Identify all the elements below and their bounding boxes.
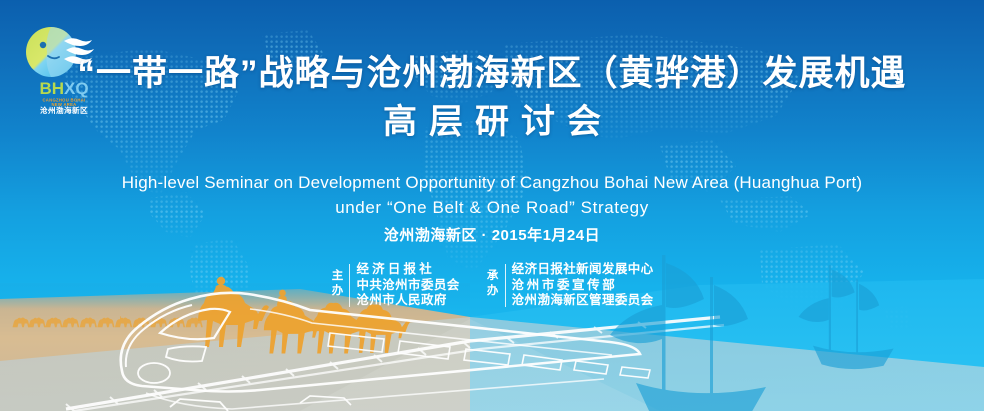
- host-list: 经济日报社 中共沧州市委员会 沧州市人民政府: [356, 262, 459, 309]
- cohost-label-char-1: 承: [486, 269, 500, 284]
- cohost-label: 承 办: [486, 262, 500, 309]
- host-label-char-2: 办: [330, 284, 344, 299]
- host-label: 主 办: [330, 262, 344, 309]
- host-item: 中共沧州市委员会: [356, 278, 459, 294]
- host-item: 沧州市人民政府: [356, 293, 459, 309]
- subtitle-en-line-2: under “One Belt & One Road” Strategy: [0, 195, 984, 220]
- subtitle-block: High-level Seminar on Development Opport…: [0, 170, 984, 220]
- high-speed-train-outline: [121, 293, 650, 411]
- subtitle-en-line-1: High-level Seminar on Development Opport…: [0, 170, 984, 195]
- host-divider: [349, 264, 350, 307]
- cohost-group: 承 办 经济日报社新闻发展中心 沧州市委宣传部 沧州渤海新区管理委员会: [486, 262, 654, 309]
- date-venue-line: 沧州渤海新区 · 2015年1月24日: [0, 224, 984, 245]
- title-block: “一带一路”战略与沧州渤海新区（黄骅港）发展机遇 高层研讨会: [0, 52, 984, 144]
- banner-scene-graphics: [0, 221, 984, 411]
- conference-banner: BHXQ CANGZHOU BOHAI NEW AREA 沧州渤海新区 “一带一…: [0, 0, 984, 411]
- title-line-1: “一带一路”战略与沧州渤海新区（黄骅港）发展机遇: [0, 52, 984, 96]
- cohost-item: 经济日报社新闻发展中心: [512, 262, 654, 278]
- host-item: 经济日报社: [356, 262, 459, 278]
- cohost-label-char-2: 办: [486, 284, 500, 299]
- host-label-char-1: 主: [330, 269, 344, 284]
- organizers-block: 主 办 经济日报社 中共沧州市委员会 沧州市人民政府 承 办 经济日报社新闻发展…: [0, 262, 984, 309]
- railway-track: [66, 317, 724, 411]
- water-highlight: [0, 317, 984, 411]
- cohost-divider: [505, 264, 506, 307]
- cohost-item: 沧州渤海新区管理委员会: [512, 293, 654, 309]
- cohost-list: 经济日报社新闻发展中心 沧州市委宣传部 沧州渤海新区管理委员会: [512, 262, 654, 309]
- host-group: 主 办 经济日报社 中共沧州市委员会 沧州市人民政府: [330, 262, 459, 309]
- cohost-item: 沧州市委宣传部: [512, 278, 654, 294]
- title-line-2: 高层研讨会: [0, 100, 984, 144]
